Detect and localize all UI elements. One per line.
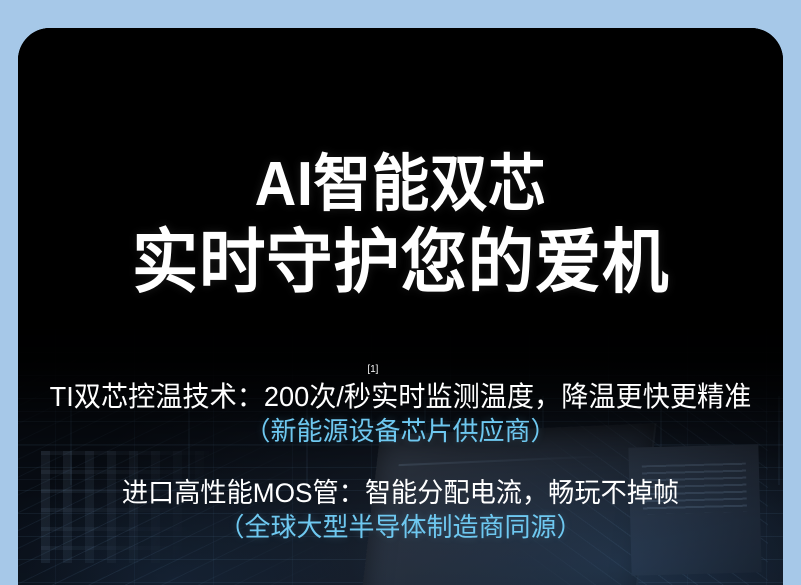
- headline-line-2: 实时守护您的爱机: [37, 222, 764, 302]
- footnote-marker: [1]: [368, 365, 379, 375]
- promo-page: AI智能双芯 实时守护您的爱机 [1] TI双芯控温技术：200次/秒实时监测温…: [0, 0, 801, 585]
- feature-main-label-ti: TI双芯控温技术：200次/秒实时监测温度，降温更快更精准: [50, 381, 752, 412]
- promo-content: AI智能双芯 实时守护您的爱机 [1] TI双芯控温技术：200次/秒实时监测温…: [18, 28, 783, 585]
- feature-item-mos: 进口高性能MOS管：智能分配电流，畅玩不掉帧 （全球大型半导体制造商同源）: [18, 476, 783, 544]
- headline-line-1: AI智能双芯: [45, 148, 756, 222]
- feature-paren-text-ti: （新能源设备芯片供应商）: [18, 414, 783, 448]
- feature-spacer: [18, 462, 783, 476]
- feature-main-text-ti: [1] TI双芯控温技术：200次/秒实时监测温度，降温更快更精准: [29, 380, 771, 414]
- feature-list: [1] TI双芯控温技术：200次/秒实时监测温度，降温更快更精准 （新能源设备…: [18, 380, 783, 558]
- headline: AI智能双芯 实时守护您的爱机: [18, 148, 783, 302]
- feature-main-text-mos: 进口高性能MOS管：智能分配电流，畅玩不掉帧: [29, 476, 771, 510]
- promo-card: AI智能双芯 实时守护您的爱机 [1] TI双芯控温技术：200次/秒实时监测温…: [18, 28, 783, 585]
- feature-item-ti-chip: [1] TI双芯控温技术：200次/秒实时监测温度，降温更快更精准 （新能源设备…: [18, 380, 783, 448]
- feature-paren-text-mos: （全球大型半导体制造商同源）: [18, 510, 783, 544]
